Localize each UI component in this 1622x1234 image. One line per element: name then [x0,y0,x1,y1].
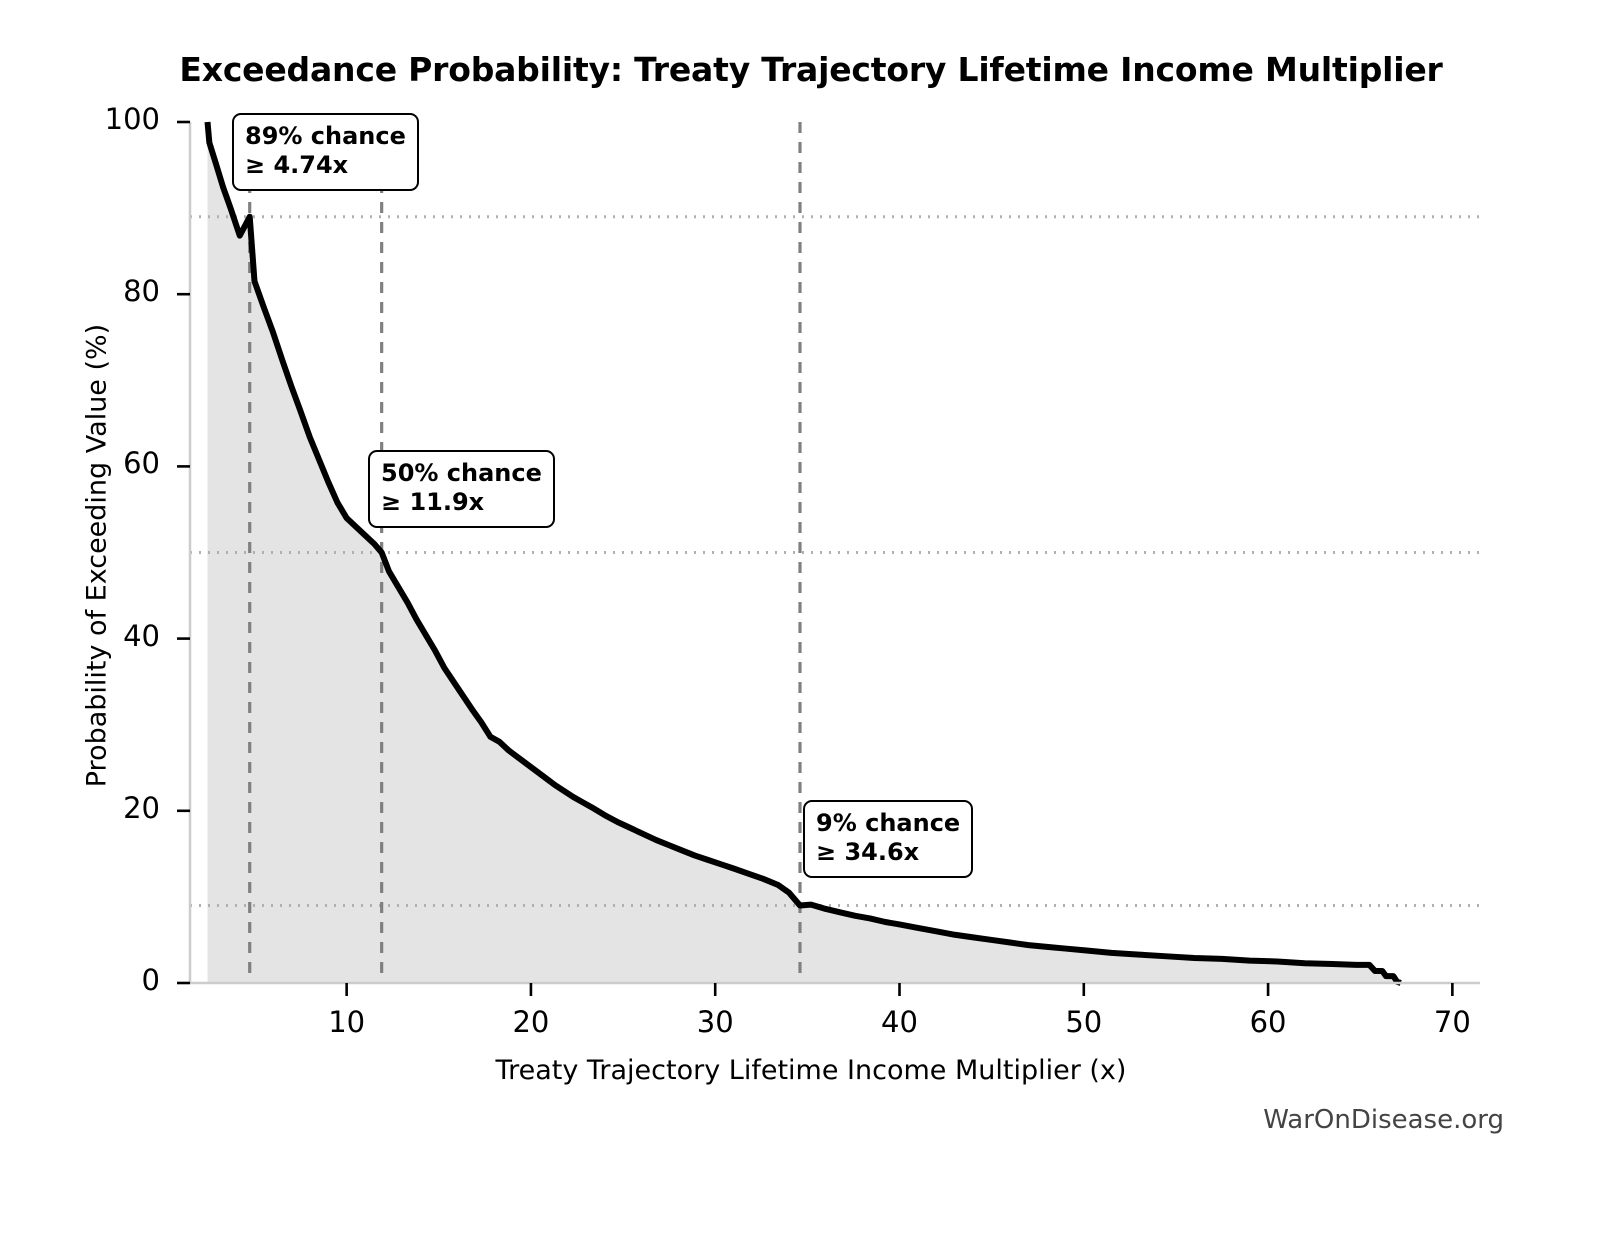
x-axis-label: Treaty Trajectory Lifetime Income Multip… [0,1055,1622,1086]
y-tick-label-80: 80 [60,274,160,308]
footer-credit: WarOnDisease.org [1263,1105,1504,1135]
annotation-box-p89: 89% chance≥ 4.74x [232,113,419,191]
chart-figure: Exceedance Probability: Treaty Trajector… [0,0,1622,1234]
annotation-box-p9: 9% chance≥ 34.6x [803,800,973,878]
y-tick-label-20: 20 [60,791,160,825]
x-tick-label-30: 30 [693,1005,737,1039]
y-tick-label-60: 60 [60,446,160,480]
annotation-value-p50: ≥ 11.9x [381,488,542,517]
annotation-probability-p9: 9% chance [816,809,960,838]
x-tick-label-50: 50 [1062,1005,1106,1039]
x-tick-label-40: 40 [878,1005,922,1039]
x-tick-label-60: 60 [1246,1005,1290,1039]
y-tick-label-0: 0 [60,963,160,997]
annotation-probability-p50: 50% chance [381,459,542,488]
y-axis-label: Probability of Exceeding Value (%) [82,276,113,836]
x-tick-label-20: 20 [509,1005,553,1039]
x-tick-label-70: 70 [1430,1005,1474,1039]
y-tick-label-40: 40 [60,619,160,653]
annotation-box-p50: 50% chance≥ 11.9x [368,450,555,528]
y-tick-label-100: 100 [60,102,160,136]
annotation-value-p89: ≥ 4.74x [245,151,406,180]
annotation-probability-p89: 89% chance [245,122,406,151]
x-tick-label-10: 10 [325,1005,369,1039]
annotation-value-p9: ≥ 34.6x [816,838,960,867]
